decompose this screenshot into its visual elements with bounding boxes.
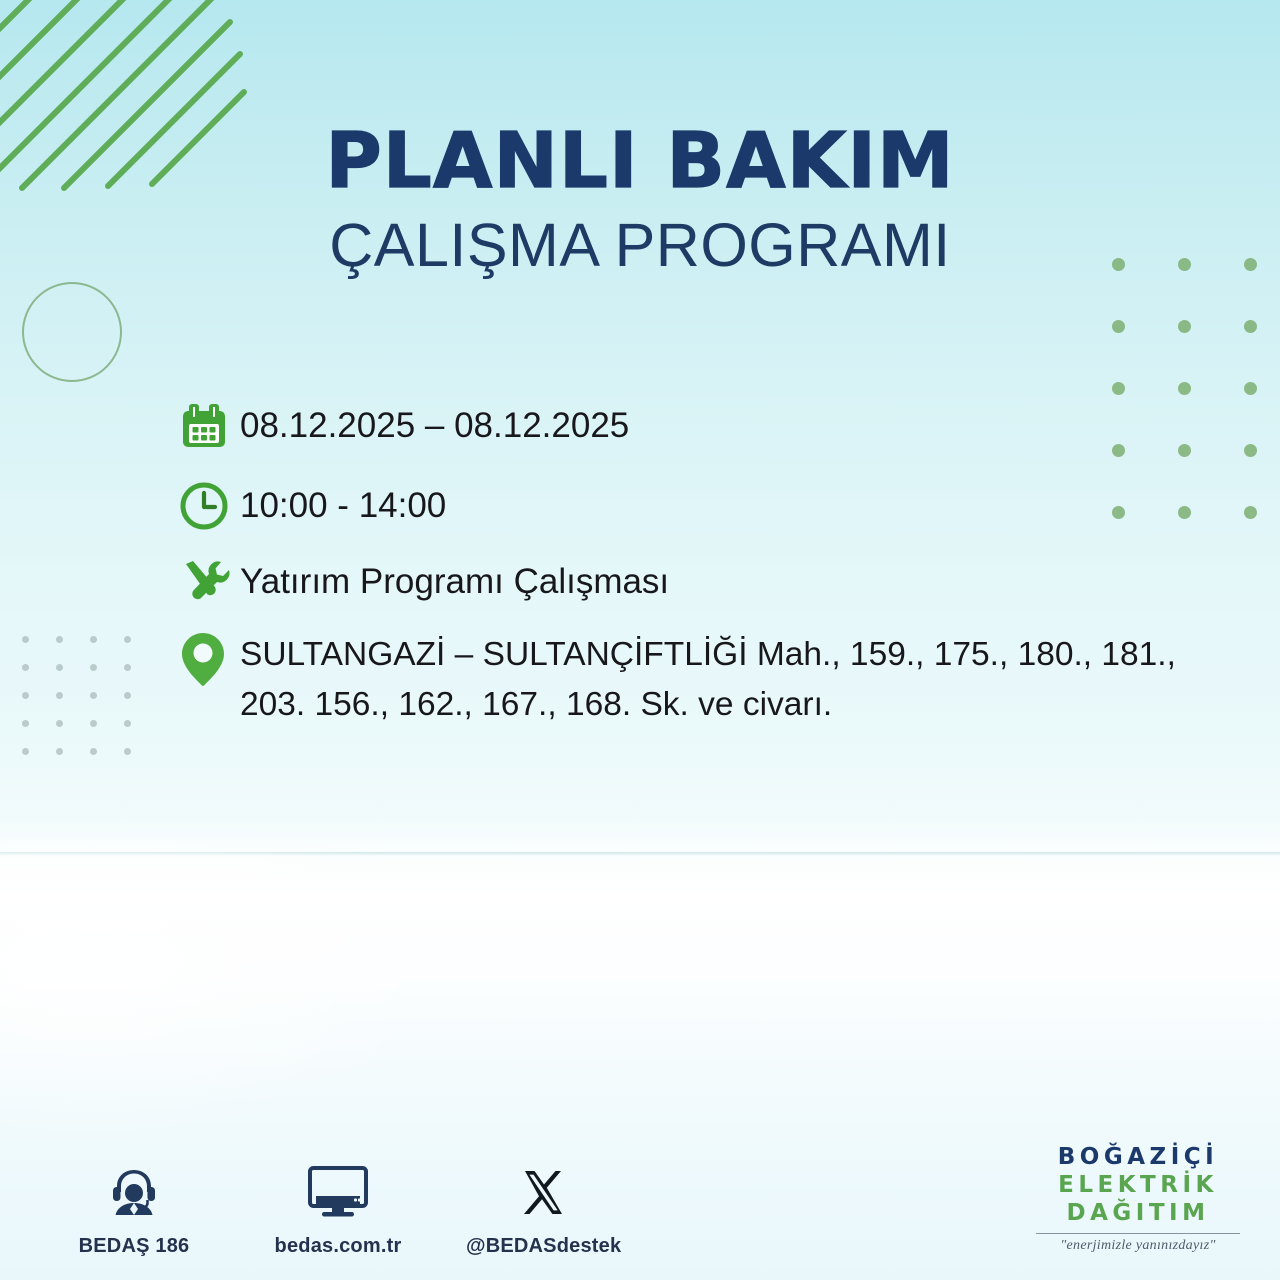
brand-line-bogazici: BOĞAZİÇİ [1030,1143,1246,1171]
contact-phone[interactable]: BEDAŞ 186 [58,1160,210,1258]
info-row-time: 10:00 - 14:00 [178,478,1268,532]
brand-divider [1036,1233,1240,1235]
dot-grid-left-decoration [22,636,158,776]
contact-website-label: bedas.com.tr [262,1235,414,1258]
contact-x-social[interactable]: @BEDASdestek [466,1160,618,1258]
x-twitter-icon [466,1160,618,1226]
address-text: SULTANGAZİ – SULTANÇİFTLİĞİ Mah., 159., … [240,628,1250,731]
brand-line-dagitim: DAĞITIM [1030,1199,1246,1227]
info-row-date: 08.12.2025 – 08.12.2025 [178,398,1268,452]
clock-icon [178,478,240,532]
info-row-work-type: Yatırım Programı Çalışması [178,554,1268,608]
page-footer: BEDAŞ 186 bedas.com.tr @B [0,1110,1280,1280]
tools-icon [178,554,240,608]
contact-website[interactable]: bedas.com.tr [262,1160,414,1258]
headset-support-icon [58,1160,210,1226]
brand-tagline: "enerjimizle yanınızdayız" [1030,1238,1246,1254]
circle-outline-decoration [22,282,122,382]
brand-logo: BOĞAZİÇİ ELEKTRİK DAĞITIM "enerjimizle y… [1030,1143,1246,1254]
contact-x-label: @BEDASdestek [466,1235,618,1258]
page-title: PLANLI BAKIM [0,123,1280,200]
time-range-text: 10:00 - 14:00 [240,478,446,531]
date-range-text: 08.12.2025 – 08.12.2025 [240,398,629,451]
background-soft-glow [0,840,460,1140]
brand-line-elektrik: ELEKTRİK [1030,1171,1246,1199]
outage-info-list: 08.12.2025 – 08.12.2025 10:00 - 14:00 Ya… [178,398,1268,757]
work-type-text: Yatırım Programı Çalışması [240,554,669,607]
page-header: PLANLI BAKIM ÇALIŞMA PROGRAMI [0,123,1280,282]
monitor-website-icon [262,1160,414,1226]
calendar-icon [178,398,240,452]
page-subtitle: ÇALIŞMA PROGRAMI [0,208,1280,282]
contact-phone-label: BEDAŞ 186 [58,1235,210,1258]
info-row-address: SULTANGAZİ – SULTANÇİFTLİĞİ Mah., 159., … [178,628,1268,731]
location-pin-icon [178,628,240,688]
contact-channels: BEDAŞ 186 bedas.com.tr @B [58,1160,618,1258]
